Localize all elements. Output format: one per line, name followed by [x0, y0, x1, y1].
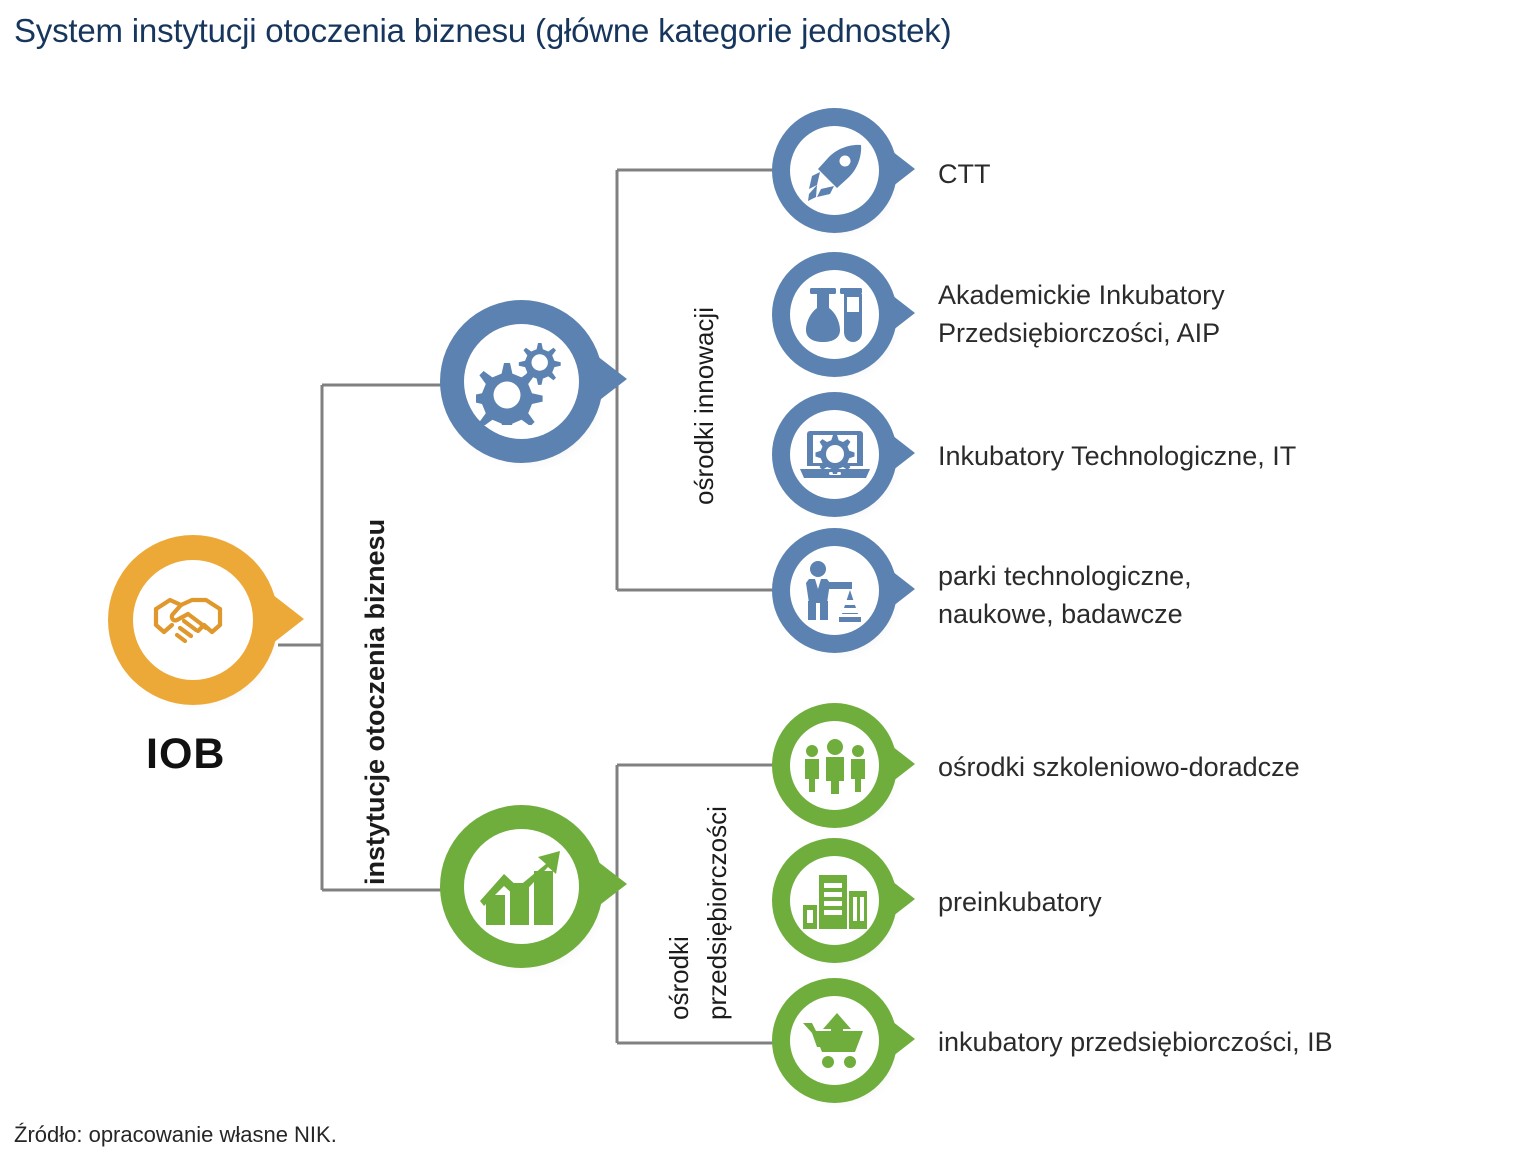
worker-cone-icon	[802, 560, 868, 622]
leaf-label-preinkubatory: preinkubatory	[938, 883, 1102, 921]
node-inner	[790, 856, 879, 945]
node-preinkubatory[interactable]	[772, 838, 912, 968]
leaf-label-inkubatory-ib: inkubatory przedsiębiorczości, IB	[938, 1023, 1333, 1061]
node-inner	[790, 996, 879, 1085]
node-inkubatory-ib[interactable]	[772, 978, 912, 1108]
branch-label-root: instytucje otoczenia biznesu	[360, 519, 391, 885]
leaf-label-szkoleniowo: ośrodki szkoleniowo-doradcze	[938, 748, 1300, 786]
gears-icon	[476, 339, 568, 425]
shopping-cart-up-icon	[801, 1011, 869, 1071]
node-parki[interactable]	[772, 528, 912, 658]
flask-icon	[804, 284, 866, 346]
node-inner	[790, 546, 879, 635]
node-inner	[790, 126, 879, 215]
rocket-icon	[803, 139, 867, 203]
node-aip[interactable]	[772, 252, 912, 382]
node-inner	[133, 560, 253, 680]
laptop-gear-icon	[800, 427, 870, 483]
buildings-icon	[801, 873, 869, 929]
iob-caption: IOB	[146, 730, 225, 779]
handshake-icon	[150, 587, 236, 653]
branch-label-przedsiebiorczosci: ośrodki przedsiębiorczości	[660, 806, 736, 1020]
node-inner	[790, 721, 879, 810]
diagram-canvas: System instytucji otoczenia biznesu (głó…	[0, 0, 1520, 1166]
source-note: Źródło: opracowanie własne NIK.	[14, 1122, 337, 1148]
node-osrodki-innowacji[interactable]	[440, 300, 620, 480]
leaf-label-it: Inkubatory Technologiczne, IT	[938, 437, 1296, 475]
node-inner	[790, 270, 879, 359]
node-inner	[464, 829, 579, 944]
node-szkoleniowo-doradcze[interactable]	[772, 703, 912, 833]
node-iob[interactable]	[108, 535, 293, 720]
node-inner	[464, 324, 579, 439]
node-inner	[790, 410, 879, 499]
growth-chart-icon	[476, 845, 568, 929]
leaf-label-parki: parki technologiczne, naukowe, badawcze	[938, 557, 1192, 633]
people-group-icon	[800, 738, 870, 794]
leaf-label-ctt: CTT	[938, 155, 990, 193]
branch-label-innowacji: ośrodki innowacji	[689, 307, 720, 505]
leaf-label-aip: Akademickie Inkubatory Przedsiębiorczośc…	[938, 276, 1225, 352]
node-it[interactable]	[772, 392, 912, 522]
node-osrodki-przedsiebiorczosci[interactable]	[440, 805, 620, 985]
node-ctt[interactable]	[772, 108, 912, 238]
